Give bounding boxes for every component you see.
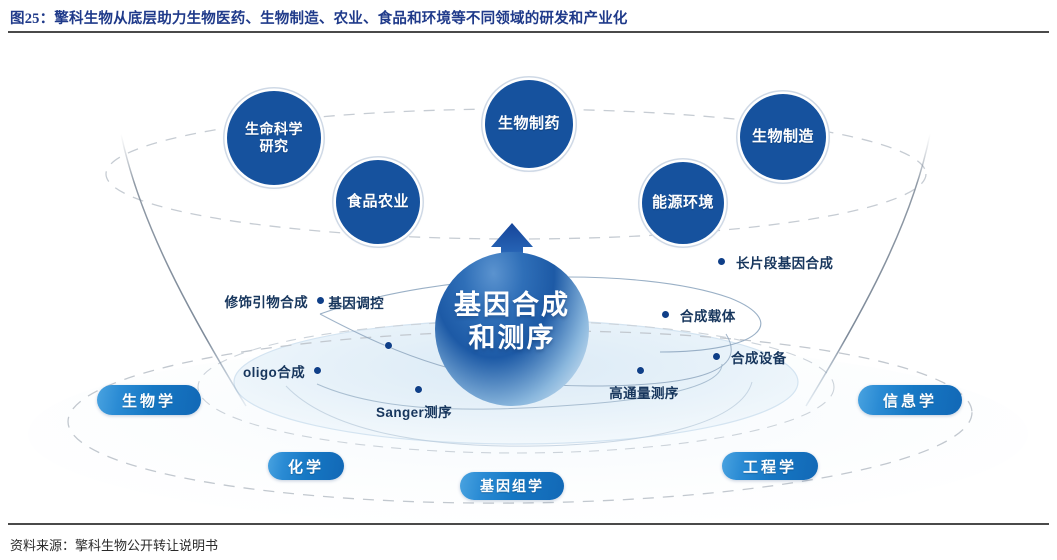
source-divider <box>8 523 1049 525</box>
core-label-line2: 和测序 <box>469 323 556 353</box>
circle-label: 食品农业 <box>343 193 413 211</box>
label-gene-regulation[interactable]: 基因调控 <box>328 292 384 312</box>
pill-chemistry[interactable]: 化学 <box>268 452 344 480</box>
circle-bio-manufacturing[interactable]: 生物制造 <box>740 94 826 180</box>
label-synthesis-vector[interactable]: 合成载体 <box>680 305 736 325</box>
circle-label: 能源环境 <box>648 194 718 212</box>
circle-label: 生物制药 <box>494 115 564 133</box>
circle-label: 生物制造 <box>748 128 818 146</box>
core-sphere-label: 基因合成 和测序 <box>454 289 570 355</box>
label-modified-primer-synthesis[interactable]: 修饰引物合成 <box>225 291 308 311</box>
dot-sanger-sequencing <box>415 386 422 393</box>
label-high-throughput-sequencing[interactable]: 高通量测序 <box>609 382 679 402</box>
pill-biology[interactable]: 生物学 <box>97 385 201 415</box>
circle-label: 生命科学研究 <box>241 121 307 154</box>
page-title: 图25：擎科生物从底层助力生物医药、生物制造、农业、食品和环境等不同领域的研发和… <box>10 7 628 28</box>
title-divider <box>8 31 1049 33</box>
dot-high-throughput-sequencing <box>637 367 644 374</box>
diagram-canvas: 生命科学研究 食品农业 生物制药 能源环境 生物制造 基因合成 和测序 修饰引物… <box>0 34 1057 522</box>
dot-synthesis-equipment <box>713 353 720 360</box>
circle-biopharmaceutical[interactable]: 生物制药 <box>485 80 573 168</box>
dot-synthesis-vector <box>662 311 669 318</box>
dot-gene-regulation <box>385 342 392 349</box>
core-label-line1: 基因合成 <box>454 290 570 320</box>
pill-engineering[interactable]: 工程学 <box>722 452 818 480</box>
label-synthesis-equipment[interactable]: 合成设备 <box>731 347 787 367</box>
circle-food-agriculture[interactable]: 食品农业 <box>336 160 420 244</box>
figure-page: 图25：擎科生物从底层助力生物医药、生物制造、农业、食品和环境等不同领域的研发和… <box>0 0 1057 560</box>
dot-oligo-synthesis <box>314 367 321 374</box>
dot-modified-primer-synthesis <box>317 297 324 304</box>
circle-energy-environment[interactable]: 能源环境 <box>642 162 724 244</box>
label-oligo-synthesis[interactable]: oligo合成 <box>243 361 305 381</box>
source-note: 资料来源：擎科生物公开转让说明书 <box>10 535 218 554</box>
dot-long-fragment-gene-synthesis <box>718 258 725 265</box>
label-sanger-sequencing[interactable]: Sanger测序 <box>376 401 452 421</box>
pill-genomics[interactable]: 基因组学 <box>460 472 564 500</box>
circle-life-science-research[interactable]: 生命科学研究 <box>227 91 321 185</box>
pill-informatics[interactable]: 信息学 <box>858 385 962 415</box>
label-long-fragment-gene-synthesis[interactable]: 长片段基因合成 <box>736 252 833 272</box>
